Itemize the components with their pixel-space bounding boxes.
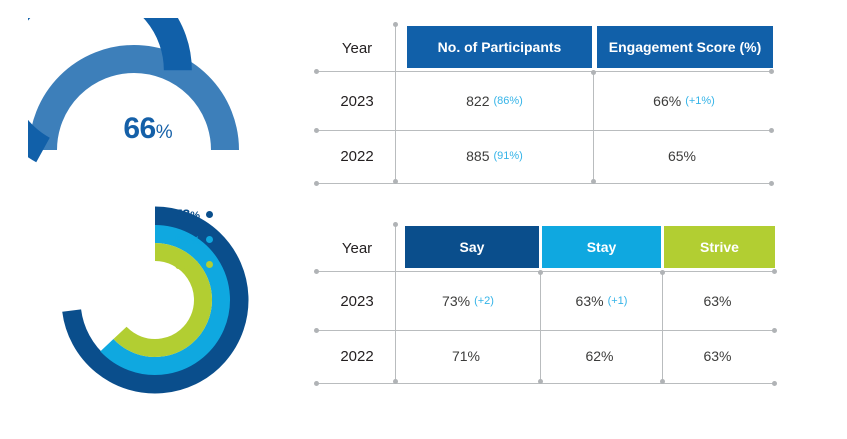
table2-row-2023-stay: 63%(+1) [542, 284, 661, 318]
say-stay-strive-table: Year Say Stay Strive 2023 73%(+2) 63%(+1… [315, 214, 778, 384]
table1-header-score: Engagement Score (%) [597, 26, 773, 68]
participants-table: Year No. of Participants Engagement Scor… [315, 14, 775, 184]
table2-row-2022-strive: 63% [664, 339, 775, 373]
gauge-percent-symbol: % [156, 122, 173, 143]
table2-header-strive: Strive [664, 226, 775, 268]
infographic-canvas: 66% 73% 63% 63% Year [0, 0, 847, 439]
legend-dot-strive [206, 261, 213, 268]
gauge-value-number: 66 [123, 112, 155, 145]
legend-item-stay: 63% [108, 227, 213, 252]
table2-rule-bottom [315, 383, 776, 384]
table2-year-header: Year [321, 228, 393, 268]
table2-row-2023-say: 73%(+2) [397, 284, 539, 318]
table2-row-2022-stay: 62% [542, 339, 661, 373]
table2-rule-mid [315, 330, 776, 331]
engagement-gauge-svg [28, 18, 268, 168]
legend-value-strive: 63% [175, 257, 200, 272]
table1-year-header: Year [321, 28, 393, 68]
say-stay-strive-rings: 73% 63% 63% [48, 200, 263, 395]
legend-item-strive: 63% [108, 252, 213, 277]
table2-header-say: Say [405, 226, 539, 268]
legend-dot-stay [206, 236, 213, 243]
table2-vrule-1 [395, 223, 396, 383]
table1-row-2022-participants: 885(91%) [397, 139, 592, 173]
table1-row-2023-score: 66%(+1%) [595, 84, 773, 118]
table1-row-2022-year: 2022 [321, 139, 393, 173]
table2-vrule-3 [662, 271, 663, 383]
table2-row-2022-say: 71% [397, 339, 539, 373]
table2-rule-top [315, 271, 776, 272]
gauge-center-label: 66% [28, 114, 268, 144]
table1-row-2023-participants: 822(86%) [397, 84, 592, 118]
table1-rule-mid [315, 130, 773, 131]
table1-header-participants: No. of Participants [407, 26, 592, 68]
table2-header-stay: Stay [542, 226, 661, 268]
table1-row-2022-score: 65% [595, 139, 773, 173]
table1-vrule-1 [395, 23, 396, 183]
legend-dot-say [206, 211, 213, 218]
legend-value-stay: 63% [175, 232, 200, 247]
legend-value-say: 73% [175, 207, 200, 222]
table1-vrule-2 [593, 71, 594, 183]
table1-row-2023-year: 2023 [321, 84, 393, 118]
table2-row-2022-year: 2022 [321, 339, 393, 373]
table2-vrule-2 [540, 271, 541, 383]
legend-item-say: 73% [108, 202, 213, 227]
table1-rule-top [315, 71, 773, 72]
table2-row-2023-strive: 63% [664, 284, 775, 318]
rings-legend: 73% 63% 63% [108, 202, 213, 277]
table1-rule-bottom [315, 183, 773, 184]
engagement-gauge: 66% [28, 18, 268, 168]
table2-row-2023-year: 2023 [321, 284, 393, 318]
